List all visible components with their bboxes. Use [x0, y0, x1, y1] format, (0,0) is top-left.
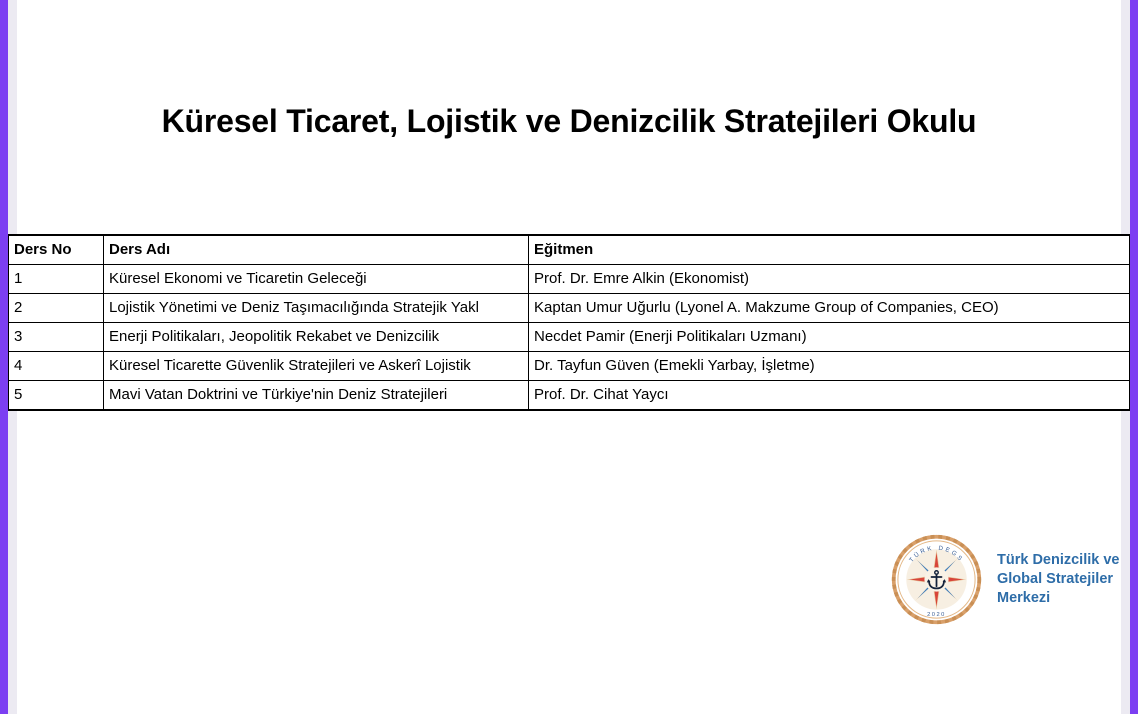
organization-logo: TÜRK DEGS 2020 Türk Denizcilik ve Global…	[890, 533, 1120, 626]
cell-ders-no: 3	[9, 323, 104, 352]
slide-canvas: Küresel Ticaret, Lojistik ve Denizcilik …	[0, 0, 1138, 714]
turk-degs-emblem-icon: TÜRK DEGS 2020	[890, 533, 983, 626]
page-title: Küresel Ticaret, Lojistik ve Denizcilik …	[0, 103, 1138, 140]
cell-egitmen: Dr. Tayfun Güven (Emekli Yarbay, İşletme…	[529, 352, 1130, 381]
column-header-egitmen: Eğitmen	[529, 235, 1130, 265]
cell-ders-no: 5	[9, 381, 104, 411]
cell-ders-adi: Lojistik Yönetimi ve Deniz Taşımacılığın…	[104, 294, 529, 323]
cell-ders-no: 4	[9, 352, 104, 381]
org-name-line-1: Türk Denizcilik ve	[997, 551, 1120, 570]
table-header-row: Ders No Ders Adı Eğitmen	[9, 235, 1130, 265]
org-name-line-2: Global Stratejiler	[997, 570, 1120, 589]
table-row: 1 Küresel Ekonomi ve Ticaretin Geleceği …	[9, 265, 1130, 294]
column-header-ders-adi: Ders Adı	[104, 235, 529, 265]
cell-egitmen: Prof. Dr. Cihat Yaycı	[529, 381, 1130, 411]
table-row: 4 Küresel Ticarette Güvenlik Stratejiler…	[9, 352, 1130, 381]
cell-egitmen: Kaptan Umur Uğurlu (Lyonel A. Makzume Gr…	[529, 294, 1130, 323]
course-table: Ders No Ders Adı Eğitmen 1 Küresel Ekono…	[8, 234, 1130, 411]
organization-name: Türk Denizcilik ve Global Stratejiler Me…	[997, 551, 1120, 609]
course-table-container: Ders No Ders Adı Eğitmen 1 Küresel Ekono…	[8, 234, 1130, 411]
org-name-line-3: Merkezi	[997, 589, 1120, 608]
emblem-year-text: 2020	[927, 612, 946, 618]
table-row: 5 Mavi Vatan Doktrini ve Türkiye'nin Den…	[9, 381, 1130, 411]
cell-ders-no: 2	[9, 294, 104, 323]
cell-ders-adi: Küresel Ekonomi ve Ticaretin Geleceği	[104, 265, 529, 294]
column-header-ders-no: Ders No	[9, 235, 104, 265]
cell-ders-no: 1	[9, 265, 104, 294]
cell-ders-adi: Mavi Vatan Doktrini ve Türkiye'nin Deniz…	[104, 381, 529, 411]
cell-egitmen: Necdet Pamir (Enerji Politikaları Uzmanı…	[529, 323, 1130, 352]
cell-ders-adi: Enerji Politikaları, Jeopolitik Rekabet …	[104, 323, 529, 352]
cell-ders-adi: Küresel Ticarette Güvenlik Stratejileri …	[104, 352, 529, 381]
table-row: 2 Lojistik Yönetimi ve Deniz Taşımacılığ…	[9, 294, 1130, 323]
table-row: 3 Enerji Politikaları, Jeopolitik Rekabe…	[9, 323, 1130, 352]
cell-egitmen: Prof. Dr. Emre Alkin (Ekonomist)	[529, 265, 1130, 294]
